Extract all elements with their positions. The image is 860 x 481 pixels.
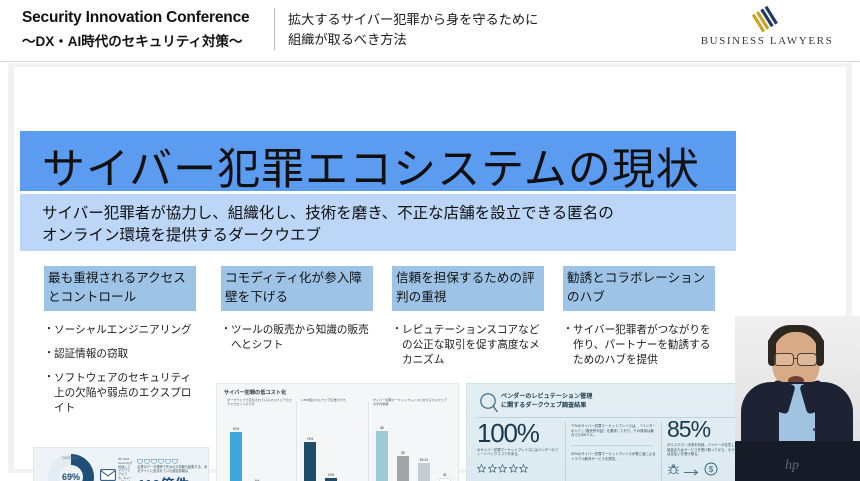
envelope-caption: HP Wolf Securityが隔離したマルウェアのうち、Eメール経由で配送さ… xyxy=(118,458,133,481)
column-header: 信頼を担保するための評判の重視 xyxy=(392,266,544,311)
star-outline-icon xyxy=(498,460,507,478)
stat-85-value: 85% xyxy=(667,418,741,441)
bar-plot: $6 インフォスティーラー $3 RAT $2.23 xyxy=(373,416,449,481)
column-bullet-list: ・ レピュテーションスコアなどの公正な取引を促す高度なメカニズム xyxy=(392,323,544,368)
stats-mid-text-1: 77%のサイバー犯罪マーケットプレイスは、「ベンダーボンド」（販売許可証）を要求… xyxy=(571,424,657,438)
stats-mid-rule xyxy=(571,445,653,446)
session-subtitle-line1: 拡大するサイバー犯罪から身を守るために xyxy=(288,10,538,30)
bullet-dot-icon: ・ xyxy=(221,323,231,353)
bullet-text: サイバー犯罪者がつながりを作り、パートナーを勧誘するためのハブを提供 xyxy=(573,323,715,368)
slide-subtitle-band: サイバー犯罪者が協力し、組織化し、技術を磨き、不正な店舗を設立できる匿名の オン… xyxy=(20,194,736,251)
stat-85-caption: がエスクロー決済を利用。バイヤーが合意した製品またはサービスを受け取ってから、セ… xyxy=(667,443,741,457)
bullet-text: ソーシャルエンジニアリング xyxy=(54,323,196,338)
bar-group-caption: ダークウェブで宣伝されているマルウェアのエクスプロイトのうち xyxy=(227,398,293,416)
presenter-hair-right xyxy=(816,338,824,366)
speech-bubble-icon xyxy=(151,459,157,464)
presenter-glasses-bridge xyxy=(794,358,798,359)
stat-100-block: 100% のサイバー犯罪マーケットプレイスにはベンダーのフィードバックスコアがあ… xyxy=(477,422,561,478)
stat-100-caption: のサイバー犯罪マーケットプレイスにはベンダーのフィードバックスコアがある。 xyxy=(477,448,561,457)
diagonal-stripes-mark-icon xyxy=(692,6,842,32)
session-subtitle: 拡大するサイバー犯罪から身を守るために 組織が取るべき方法 xyxy=(288,10,538,51)
list-item: ・ レピュテーションスコアなどの公正な取引を促す高度なメカニズム xyxy=(392,323,544,368)
bar-plot: 91% 10ドル以下 6% 10ドル～100ドル未満 3% xyxy=(227,416,293,481)
bullet-text: ツールの販売から知識の販売へとシフト xyxy=(231,323,373,353)
stats-mid-column: 77%のサイバー犯罪マーケットプレイスは、「ベンダーボンド」（販売許可証）を要求… xyxy=(571,424,657,461)
list-item: ・ ソーシャルエンジニアリング xyxy=(44,323,196,338)
donut-chart: 2022年Q1 69% xyxy=(48,454,94,481)
bar-group-1: ダークウェブで宣伝されているマルウェアのエクスプロイトのうち 91% 10ドル以… xyxy=(223,398,297,481)
bar-group-caption: サイバー犯罪マーケットプレイスにおけるマルウェアの平均価格 xyxy=(373,398,449,416)
bar-chart-groups: ダークウェブで宣伝されているマルウェアのエクスプロイトのうち 91% 10ドル以… xyxy=(223,398,455,481)
bullet-dot-icon: ・ xyxy=(44,347,54,362)
bullet-dot-icon: ・ xyxy=(392,323,402,368)
stats-card: ベンダーのレビュテーション管理 に関するダークウェブ調査結果 100% のサイバ… xyxy=(466,383,746,481)
bar-item: $1 クリプター xyxy=(437,473,453,481)
brand-logo: BUSINESS LAWYERS xyxy=(692,6,842,47)
column-header: 最も重視されるアクセスとコントロール xyxy=(44,266,196,311)
stats-vertical-rule xyxy=(565,422,566,481)
star-outline-icon xyxy=(519,460,528,478)
bar-rect xyxy=(304,442,316,481)
bar-value: $6 xyxy=(380,426,384,430)
magnifier-icon xyxy=(479,392,499,419)
laptop-hp-logo: hp xyxy=(785,458,799,474)
bar-value: $1 xyxy=(443,473,447,477)
stat-85-block: 85% がエスクロー決済を利用。バイヤーが合意した製品またはサービスを受け取って… xyxy=(667,418,741,481)
presenter-video: hp xyxy=(735,316,860,481)
dollar-circle-icon: $ xyxy=(704,462,718,481)
bar-group-2: 1,653個のマルウェア広告のうち 76% 10ドル以下 15% xyxy=(297,398,369,481)
bullet-dot-icon: ・ xyxy=(44,323,54,338)
slide-subtitle-line1: サイバー犯罪者が協力し、組織化し、技術を磨き、不正な店舗を設立できる匿名の xyxy=(42,203,614,225)
content-column-reputation: 信頼を担保するための評判の重視 ・ レピュテーションスコアなどの公正な取引を促す… xyxy=(392,266,544,377)
stats-heading-line2: に関するダークウェブ調査結果 xyxy=(501,402,592,411)
bar-value: $3 xyxy=(401,451,405,455)
speech-bubble-icon xyxy=(172,459,178,464)
brand-name: BUSINESS LAWYERS xyxy=(692,35,842,47)
bar-value: 91% xyxy=(233,427,239,431)
header-divider xyxy=(274,8,275,50)
content-column-commoditization: コモディティ化が参入障壁を下げる ・ ツールの販売から知識の販売へとシフト xyxy=(221,266,373,362)
bar-item: 15% 10ドル～100ドル未満 xyxy=(323,473,339,481)
list-item: ・ 認証情報の窃取 xyxy=(44,347,196,362)
conference-title-jp: ～DX・AI時代のセキュリティ対策～ xyxy=(22,30,267,50)
bar-chart-title: サイバー犯罪の低コスト化 xyxy=(224,389,458,396)
list-item: ・ ツールの販売から知識の販売へとシフト xyxy=(221,323,373,353)
bar-rect xyxy=(325,478,337,481)
column-bullet-list: ・ ツールの販売から知識の販売へとシフト xyxy=(221,323,373,353)
bar-rect xyxy=(230,432,242,481)
slide-frame: サイバー犯罪エコシステムの現状 サイバー犯罪者が協力し、組織化し、技術を磨き、不… xyxy=(8,63,852,473)
conference-title-en: Security Innovation Conference xyxy=(22,9,267,27)
presenter-glasses-right xyxy=(797,353,817,366)
header-rule xyxy=(0,61,860,62)
star-outline-icon xyxy=(509,460,518,478)
bullet-dot-icon: ・ xyxy=(563,323,573,368)
stat-100-value: 100% xyxy=(477,422,561,446)
slide-title: サイバー犯罪エコシステムの現状 xyxy=(42,135,700,197)
conference-title-block: Security Innovation Conference ～DX・AI時代の… xyxy=(22,9,267,50)
bar-group-caption: 1,653個のマルウェア広告のうち xyxy=(301,398,365,416)
speech-bubble-icon xyxy=(137,459,143,464)
speech-bubble-icon xyxy=(144,459,150,464)
list-item: ・ サイバー犯罪者がつながりを作り、パートナーを勧誘するためのハブを提供 xyxy=(563,323,715,368)
credentials-stat: 企業のデータ漏洩で失われた情報も起集する、あるサイトに含まれていた認証情報は 1… xyxy=(137,459,208,481)
envelope-icon xyxy=(100,468,116,481)
star-outline-icon xyxy=(488,460,497,478)
bar-rect xyxy=(418,463,430,481)
presentation-screenshot: Security Innovation Conference ～DX・AI時代の… xyxy=(0,0,860,481)
bar-item: $2.23 エクスプロイト xyxy=(416,458,432,481)
speech-bubble-icon xyxy=(165,459,171,464)
slide-title-band: サイバー犯罪エコシステムの現状 xyxy=(20,131,736,191)
escrow-icon-row: $ xyxy=(667,462,741,481)
slide-subtitle: サイバー犯罪者が協力し、組織化し、技術を磨き、不正な店舗を設立できる匿名の オン… xyxy=(42,203,614,247)
bar-value: $2.23 xyxy=(420,458,428,462)
stats-mid-text-2: 92%のサイバー犯罪マーケットプレイスが第三者によるトラブル解決サービスを提供。 xyxy=(571,452,657,461)
bar-plot: 76% 10ドル以下 15% 10ドル～100ドル未満 8% xyxy=(301,416,365,481)
column-header: コモディティ化が参入障壁を下げる xyxy=(221,266,373,311)
bar-group-3: サイバー犯罪マーケットプレイスにおけるマルウェアの平均価格 $6 インフォスティ… xyxy=(369,398,453,481)
bar-value: 15% xyxy=(328,473,334,477)
presenter-glasses-left xyxy=(774,353,794,366)
column-header: 勧誘とコラボレーションのハブ xyxy=(563,266,715,311)
presenter-laptop: hp xyxy=(735,441,860,481)
bar-item: 91% 10ドル以下 xyxy=(228,427,244,481)
arrow-right-icon xyxy=(684,463,700,481)
credentials-value: 110億件 xyxy=(137,474,208,481)
session-subtitle-line2: 組織が取るべき方法 xyxy=(288,30,538,50)
page-header: Security Innovation Conference ～DX・AI時代の… xyxy=(0,0,860,62)
bar-rect xyxy=(397,456,409,481)
bar-value: 76% xyxy=(307,437,313,441)
slide-subtitle-line2: オンライン環境を提供するダークウエブ xyxy=(42,225,614,247)
stats-heading: ベンダーのレビュテーション管理 に関するダークウェブ調査結果 xyxy=(501,393,592,411)
column-bullet-list: ・ サイバー犯罪者がつながりを作り、パートナーを勧誘するためのハブを提供 xyxy=(563,323,715,368)
donut-stat-card: 2022年Q1 69% HP Wolf Securityが隔離したマルウェアのう… xyxy=(33,447,209,481)
infographic-row: 2022年Q1 69% HP Wolf Securityが隔離したマルウェアのう… xyxy=(30,383,746,481)
speech-bubble-icon xyxy=(158,459,164,464)
stats-heading-line1: ベンダーのレビュテーション管理 xyxy=(501,393,592,402)
bullet-text: レピュテーションスコアなどの公正な取引を促す高度なメカニズム xyxy=(402,323,544,368)
bar-rect xyxy=(439,478,451,481)
star-outline-icon xyxy=(477,460,486,478)
presenter-microphone xyxy=(813,428,816,431)
bug-icon xyxy=(667,463,680,481)
credentials-caption: 企業のデータ漏洩で失われた情報も起集する、あるサイトに含まれていた認証情報は xyxy=(137,465,208,473)
stats-vertical-rule xyxy=(661,422,662,481)
speech-bubble-icon-row xyxy=(137,459,208,464)
star-rating xyxy=(477,460,561,478)
bar-item: 76% 10ドル以下 xyxy=(302,437,318,481)
svg-text:$: $ xyxy=(709,465,714,474)
bar-item: $6 インフォスティーラー xyxy=(374,426,390,481)
bar-item: $3 RAT xyxy=(395,451,411,481)
bullet-text: 認証情報の窃取 xyxy=(54,347,196,362)
bar-rect xyxy=(376,431,388,481)
content-columns: 最も重視されるアクセスとコントロール ・ ソーシャルエンジニアリング ・ 認証情… xyxy=(44,266,744,386)
bar-chart-card: サイバー犯罪の低コスト化 ダークウェブで宣伝されているマルウェアのエクスプロイト… xyxy=(216,383,459,481)
donut-value: 69% xyxy=(48,454,94,481)
content-column-collaboration: 勧誘とコラボレーションのハブ ・ サイバー犯罪者がつながりを作り、パートナーを勧… xyxy=(563,266,715,377)
